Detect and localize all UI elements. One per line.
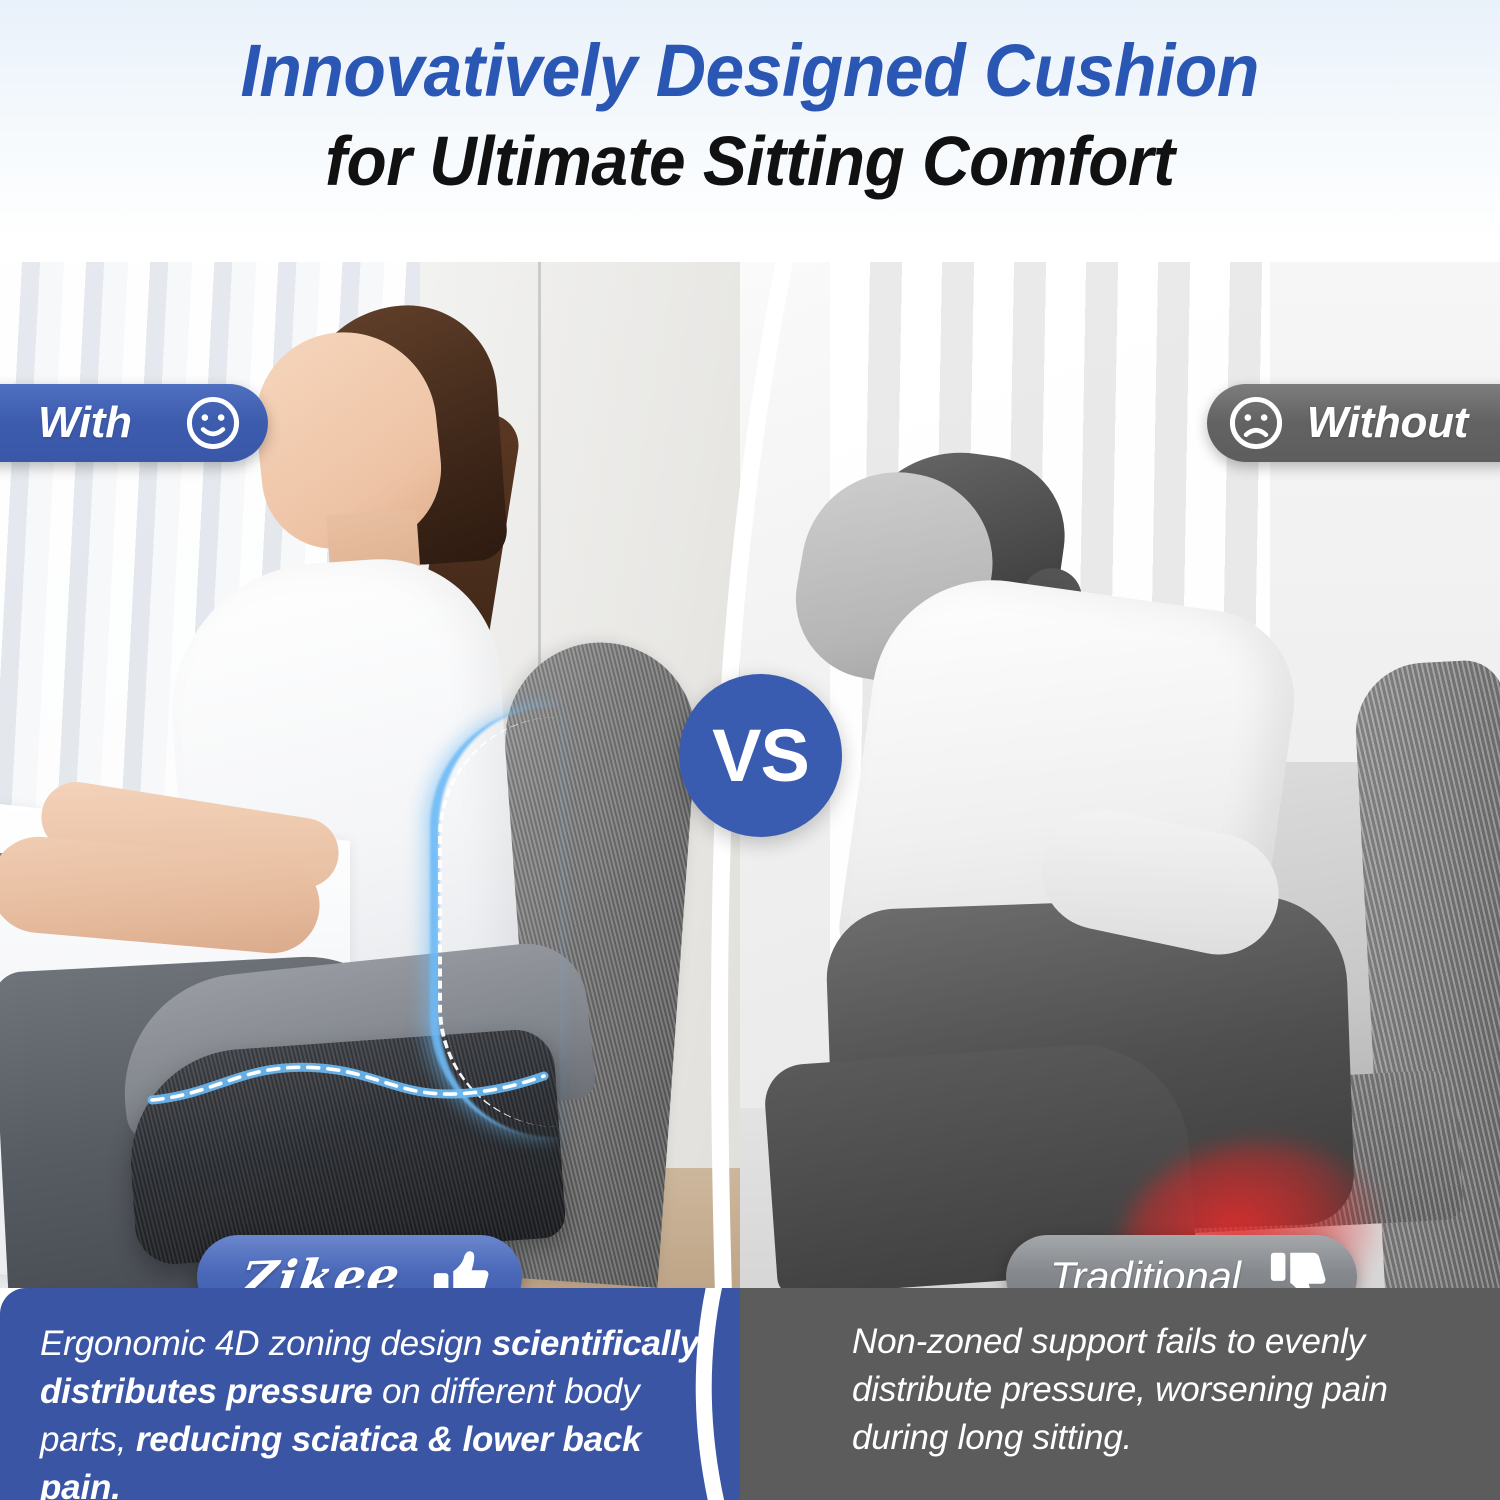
- without-caption-text: Non-zoned support fails to evenly distri…: [852, 1318, 1440, 1462]
- product-comparison-infographic: Innovatively Designed Cushion for Ultima…: [0, 0, 1500, 1500]
- smiley-happy-icon: [184, 394, 242, 452]
- brand-badge[interactable]: Zikee: [197, 1235, 522, 1288]
- brand-name: Zikee: [236, 1245, 404, 1288]
- headline-banner: Innovatively Designed Cushion for Ultima…: [0, 0, 1500, 262]
- vs-badge: VS: [679, 674, 842, 837]
- thumbs-up-icon: [430, 1246, 492, 1288]
- with-cushion-photo: With Zikee: [0, 262, 790, 1288]
- traditional-badge[interactable]: Traditional: [1006, 1235, 1357, 1288]
- thumbs-down-icon: [1267, 1246, 1329, 1288]
- without-badge-label: Without: [1307, 398, 1468, 448]
- without-badge[interactable]: Without: [1207, 384, 1500, 462]
- cushion-contour-glow: [148, 1052, 548, 1112]
- headline-line-2: for Ultimate Sitting Comfort: [325, 126, 1175, 196]
- traditional-label: Traditional: [1050, 1253, 1241, 1288]
- caption-prefix: Ergonomic 4D zoning design: [40, 1324, 492, 1363]
- with-caption-text: Ergonomic 4D zoning design scientificall…: [40, 1320, 730, 1500]
- with-caption-bar: Ergonomic 4D zoning design scientificall…: [0, 1288, 790, 1500]
- with-badge[interactable]: With: [0, 384, 268, 462]
- with-badge-label: With: [38, 398, 132, 448]
- smiley-sad-icon: [1227, 394, 1285, 452]
- vs-label: VS: [712, 713, 809, 798]
- without-caption-bar: Non-zoned support fails to evenly distri…: [740, 1288, 1500, 1500]
- comparison-photo-area: With Zikee: [0, 262, 1500, 1288]
- caption-bars: Ergonomic 4D zoning design scientificall…: [0, 1288, 1500, 1500]
- headline-line-1: Innovatively Designed Cushion: [241, 34, 1259, 108]
